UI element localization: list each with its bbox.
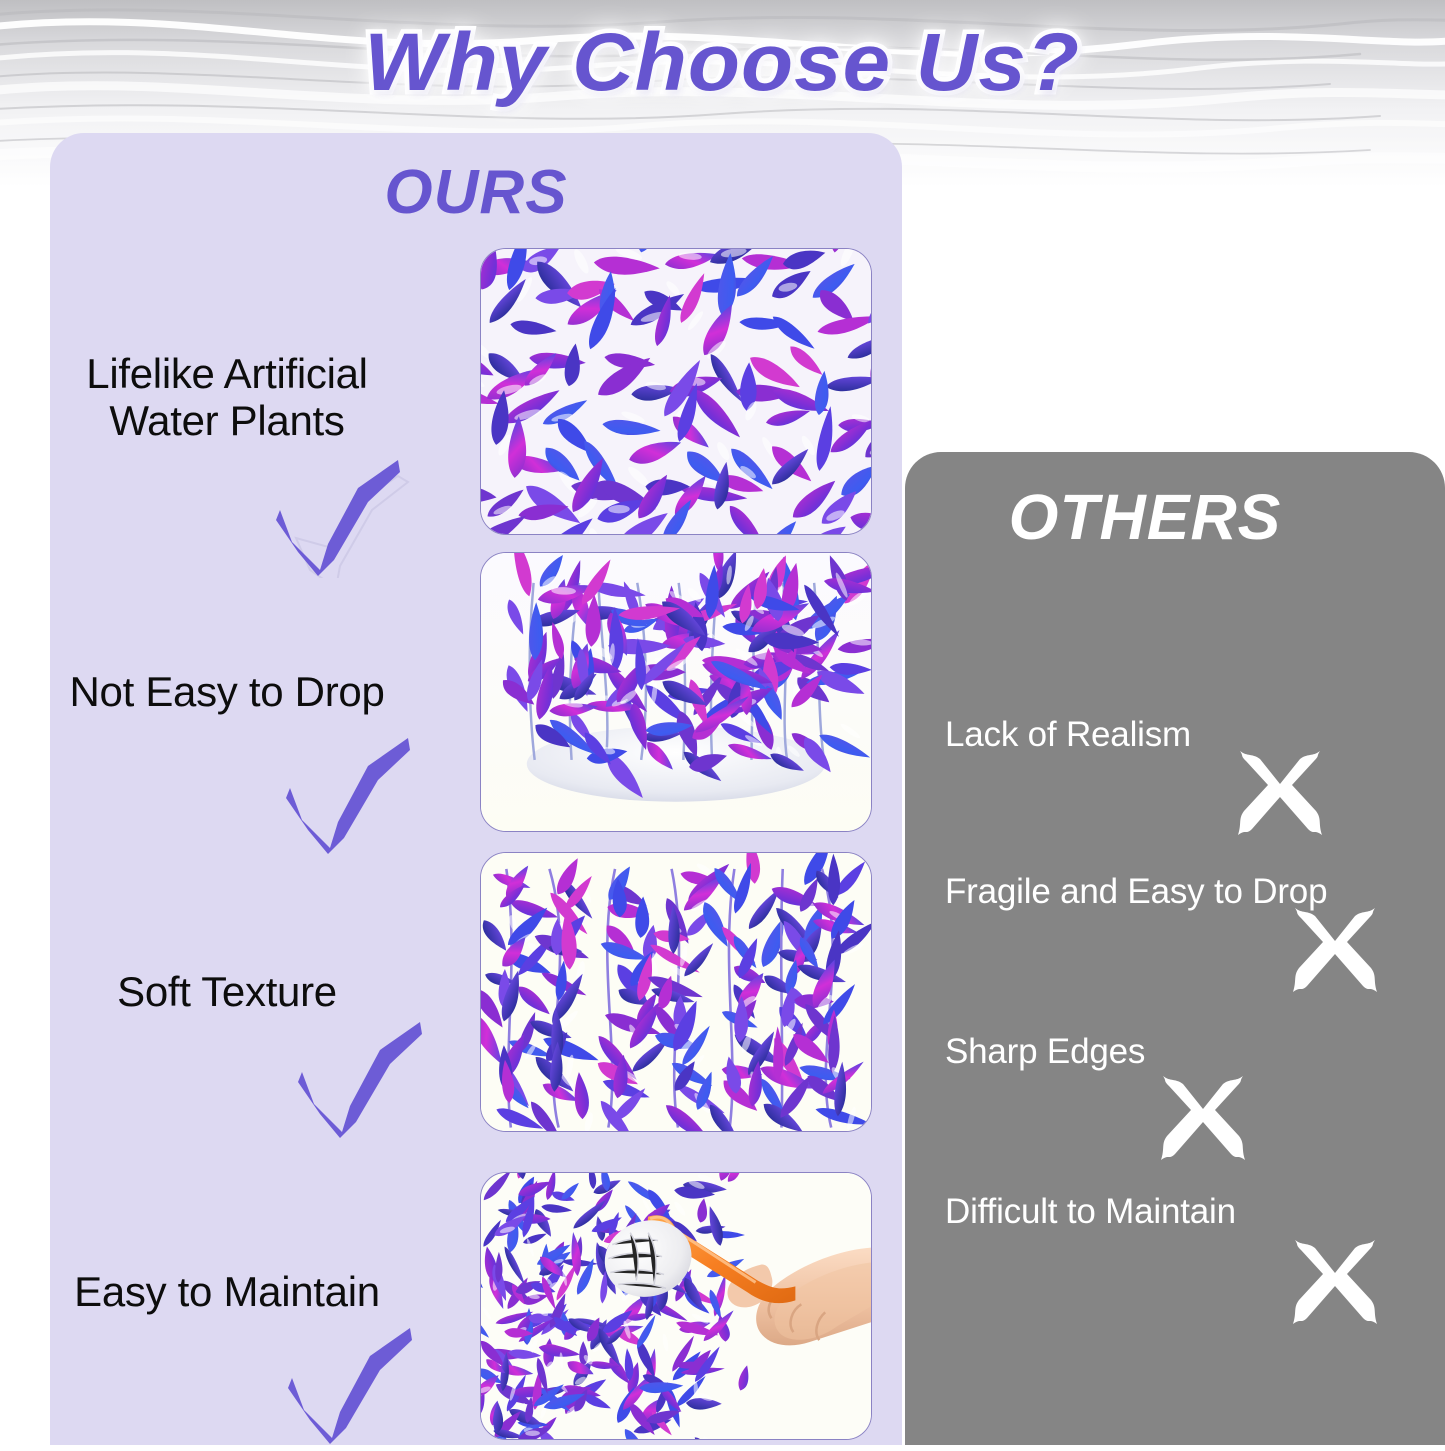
product-photo-plant-with-base: [480, 552, 872, 832]
page-title: Why Choose Us?: [365, 16, 1081, 110]
check-icon: [294, 1020, 442, 1140]
check-icon: [284, 1326, 432, 1446]
photo-artwork: [481, 1173, 871, 1440]
feature-row-lifelike: Lifelike Artificial Water Plants: [12, 350, 442, 444]
feature-label-line1: Lifelike Artificial: [12, 350, 442, 397]
con-label: Difficult to Maintain: [945, 1192, 1415, 1232]
cross-icon: [1230, 743, 1330, 843]
con-row-difficult-to-maintain: Difficult to Maintain: [945, 1192, 1415, 1232]
cross-icon: [1285, 1232, 1385, 1332]
feature-label-line1: Soft Texture: [12, 968, 442, 1015]
cross-icon: [1153, 1068, 1253, 1168]
product-photo-brush-cleaning: [480, 1172, 872, 1440]
photo-artwork: [481, 553, 871, 832]
feature-label-line1: Not Easy to Drop: [12, 668, 442, 715]
others-heading: OTHERS: [905, 480, 1385, 554]
feature-label-line2: Water Plants: [12, 397, 442, 444]
con-row-lack-of-realism: Lack of Realism: [945, 715, 1415, 755]
feature-row-not-easy-to-drop: Not Easy to Drop: [12, 668, 442, 715]
check-icon: [272, 458, 420, 578]
cross-icon: [1285, 900, 1385, 1000]
con-row-sharp-edges: Sharp Edges: [945, 1032, 1415, 1072]
photo-artwork: [481, 853, 871, 1132]
feature-row-easy-to-maintain: Easy to Maintain: [12, 1268, 442, 1315]
product-photo-plant-stalks: [480, 852, 872, 1132]
check-icon: [282, 736, 430, 856]
page-title-container: Why Choose Us?: [0, 8, 1445, 118]
con-row-fragile: Fragile and Easy to Drop: [945, 872, 1415, 912]
feature-label-line1: Easy to Maintain: [12, 1268, 442, 1315]
ours-heading: OURS: [50, 157, 902, 228]
product-photo-dense-leaves: [480, 248, 872, 535]
con-label: Sharp Edges: [945, 1032, 1415, 1072]
feature-row-soft-texture: Soft Texture: [12, 968, 442, 1015]
photo-artwork: [481, 249, 871, 535]
con-label: Lack of Realism: [945, 715, 1415, 755]
